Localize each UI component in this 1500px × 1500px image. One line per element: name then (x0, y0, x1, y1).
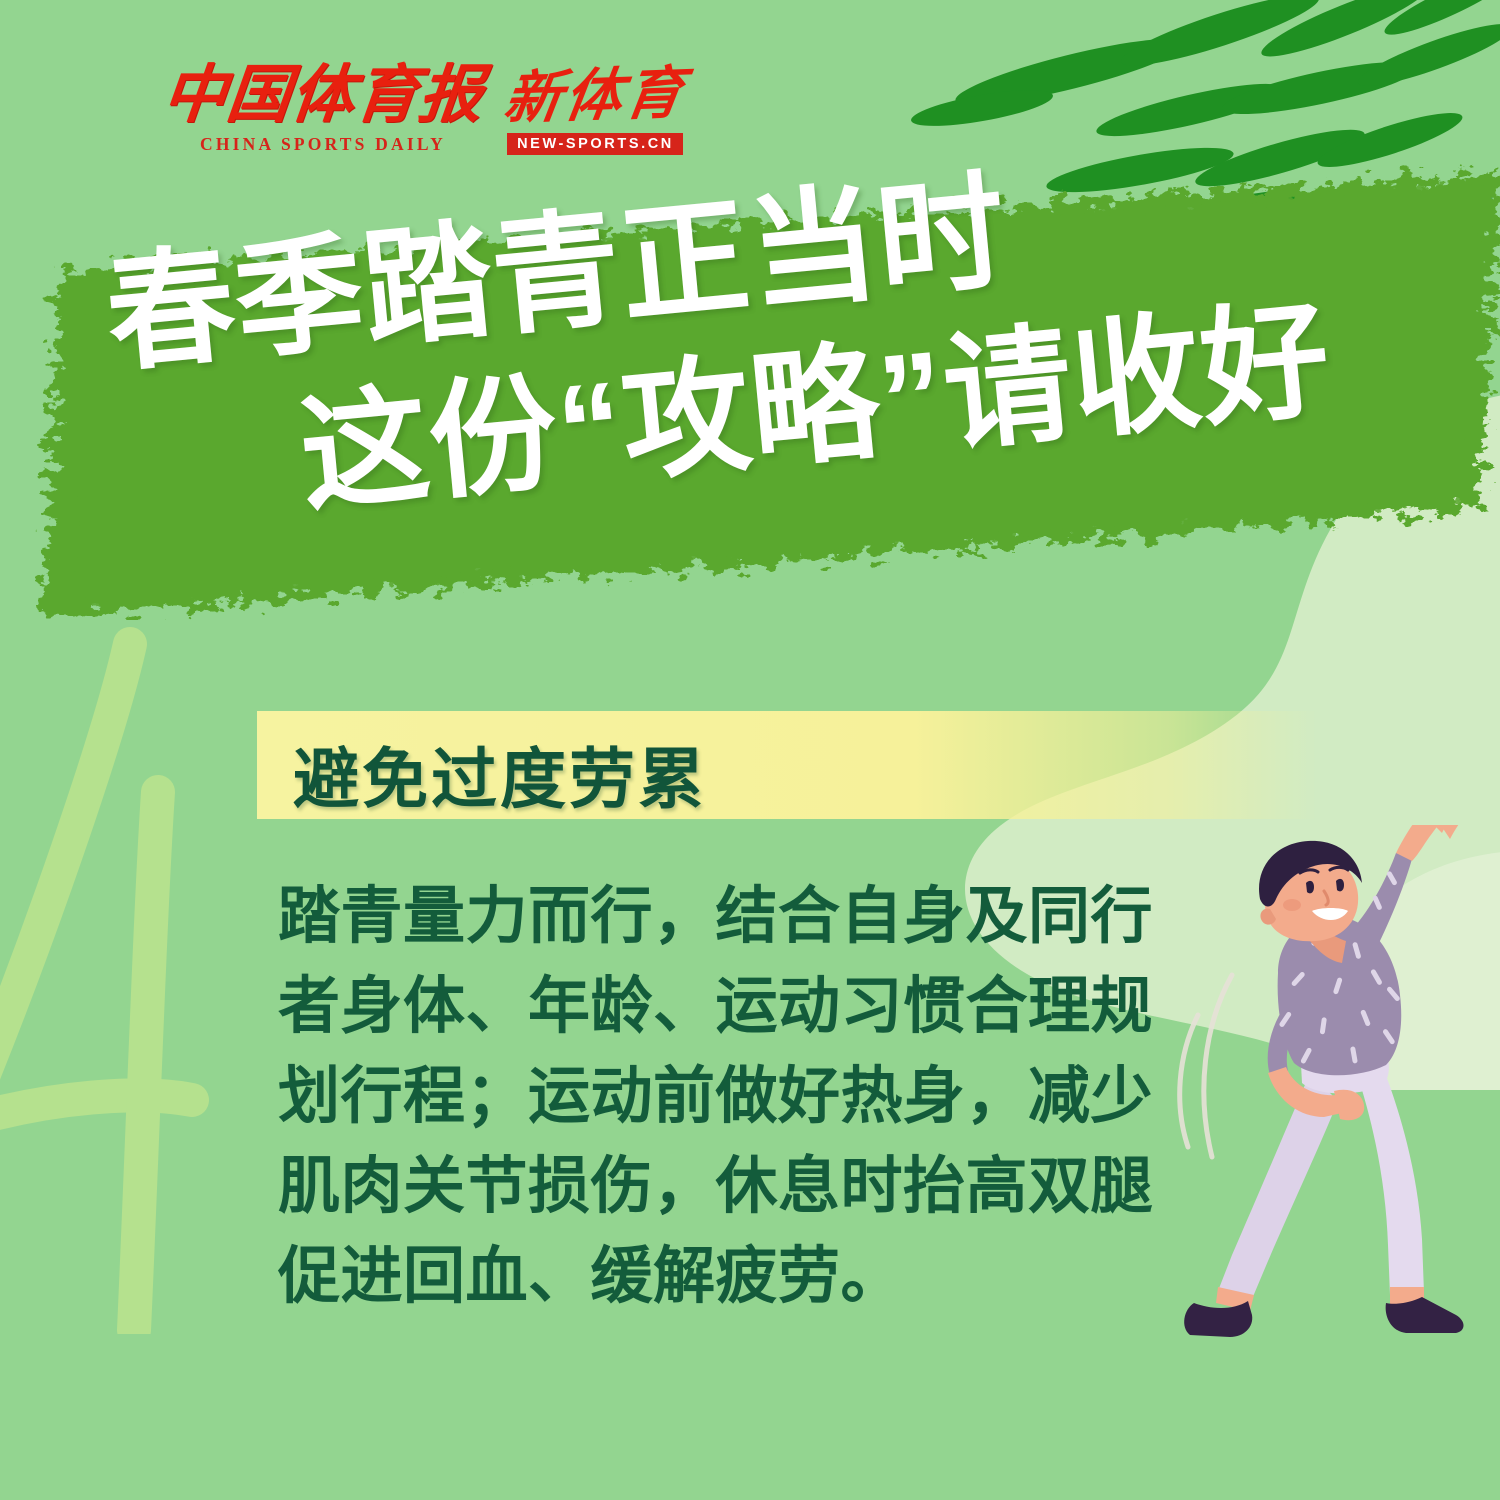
sublogo-block: 新体育 NEW-SPORTS.CN (505, 68, 685, 155)
lower-hand (1334, 1090, 1364, 1120)
stretching-person-illustration (1160, 825, 1490, 1395)
right-leg (1356, 1065, 1424, 1295)
publisher-logo: 中国体育报 CHINA SPORTS DAILY 新体育 NEW-SPORTS.… (163, 64, 685, 155)
section-body-copy: 踏青量力而行，结合自身及同行 者身体、年龄、运动习惯合理规 划行程；运动前做好热… (278, 872, 1218, 1322)
left-shoe (1184, 1301, 1252, 1337)
cheek-blush (1283, 899, 1301, 911)
body-line: 踏青量力而行，结合自身及同行 (278, 872, 1218, 962)
body-line: 划行程；运动前做好热身，减少 (278, 1052, 1218, 1142)
masthead-english: CHINA SPORTS DAILY (200, 134, 446, 155)
raised-arm-sleeve (1356, 853, 1412, 949)
masthead-chinese: 中国体育报 (160, 64, 487, 127)
sublogo-url-badge: NEW-SPORTS.CN (507, 133, 683, 155)
masthead-block: 中国体育报 CHINA SPORTS DAILY (163, 64, 483, 155)
sublogo-chinese: 新体育 (500, 65, 689, 128)
poster-canvas: 中国体育报 CHINA SPORTS DAILY 新体育 NEW-SPORTS.… (0, 0, 1500, 1500)
body-line: 促进回血、缓解疲劳。 (278, 1232, 1218, 1322)
body-line: 者身体、年龄、运动习惯合理规 (278, 962, 1218, 1052)
section-number-watermark (0, 614, 262, 1334)
body-line: 肌肉关节损伤，休息时抬高双腿 (278, 1142, 1218, 1232)
section-heading-text: 避免过度劳累 (293, 726, 707, 822)
